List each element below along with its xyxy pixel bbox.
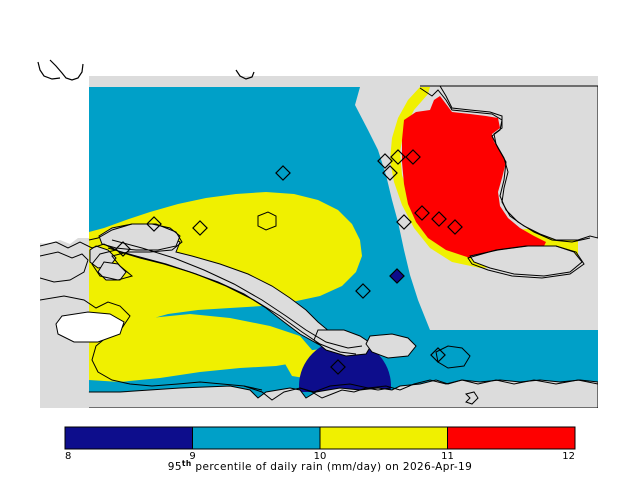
caption-rest: percentile of daily rain (mm/day) on 202…: [192, 461, 473, 473]
map-panel: [40, 76, 598, 408]
colorbar-bin-9-10[interactable]: [193, 427, 321, 449]
colorbar-caption: 95th percentile of daily rain (mm/day) o…: [168, 459, 472, 473]
caption-prefix: 95: [168, 461, 182, 473]
colorbar-bin-11-12[interactable]: [448, 427, 576, 449]
colorbar-bin-8-9[interactable]: [65, 427, 193, 449]
weather-map-page: VictoriaWeather.ca -- Summer Total Daily…: [0, 0, 640, 480]
map-figure: 8 9 10 11 12 95th percentile of daily ra…: [0, 0, 640, 480]
colorbar-tick-4: 12: [562, 451, 575, 462]
colorbar-tick-0: 8: [65, 451, 71, 462]
colorbar-bin-10-11[interactable]: [320, 427, 448, 449]
caption-superscript: th: [182, 459, 192, 468]
ocean-northwest: [40, 76, 89, 244]
